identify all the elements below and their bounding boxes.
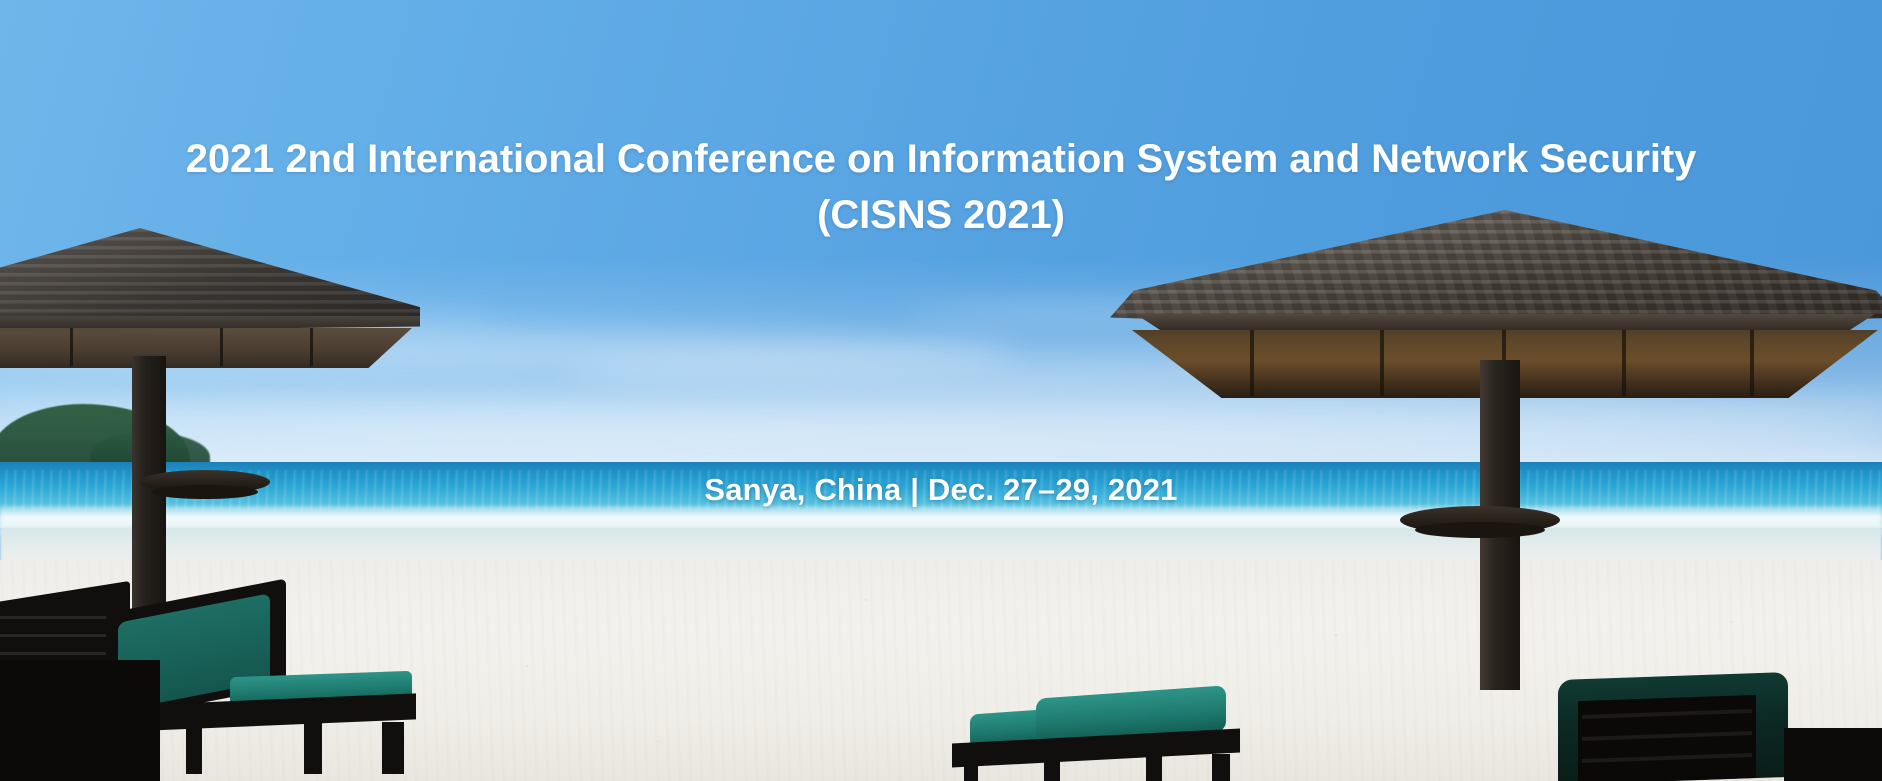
umbrella-panel-seam: [1380, 330, 1384, 396]
umbrella-rib: [220, 328, 223, 366]
lounger-center: [940, 688, 1250, 781]
conference-banner: 2021 2nd International Conference on Inf…: [0, 0, 1882, 781]
umbrella-rib: [310, 328, 313, 366]
conference-title: 2021 2nd International Conference on Inf…: [0, 131, 1882, 243]
conference-title-line-2: (CISNS 2021): [0, 187, 1882, 243]
lounger-legs: [964, 754, 1230, 781]
umbrella-panel-seam: [1250, 330, 1254, 396]
beach-umbrella-right: [1110, 210, 1882, 690]
venue-date-text: Sanya, China | Dec. 27–29, 2021: [704, 470, 1177, 510]
umbrella-table-lip: [1415, 522, 1545, 538]
conference-venue-and-dates: Sanya, China | Dec. 27–29, 2021: [0, 470, 1882, 510]
lounger-left-c: [0, 660, 160, 781]
umbrella-panel-seam: [1622, 330, 1626, 396]
umbrella-panel-seam: [1750, 330, 1754, 396]
conference-title-line-1: 2021 2nd International Conference on Inf…: [0, 131, 1882, 187]
umbrella-underside: [0, 328, 412, 368]
lounger-frame: [1784, 728, 1882, 781]
beach-umbrella-left: [0, 228, 420, 648]
lounger-right: [1548, 676, 1882, 781]
umbrella-rib: [70, 328, 73, 366]
